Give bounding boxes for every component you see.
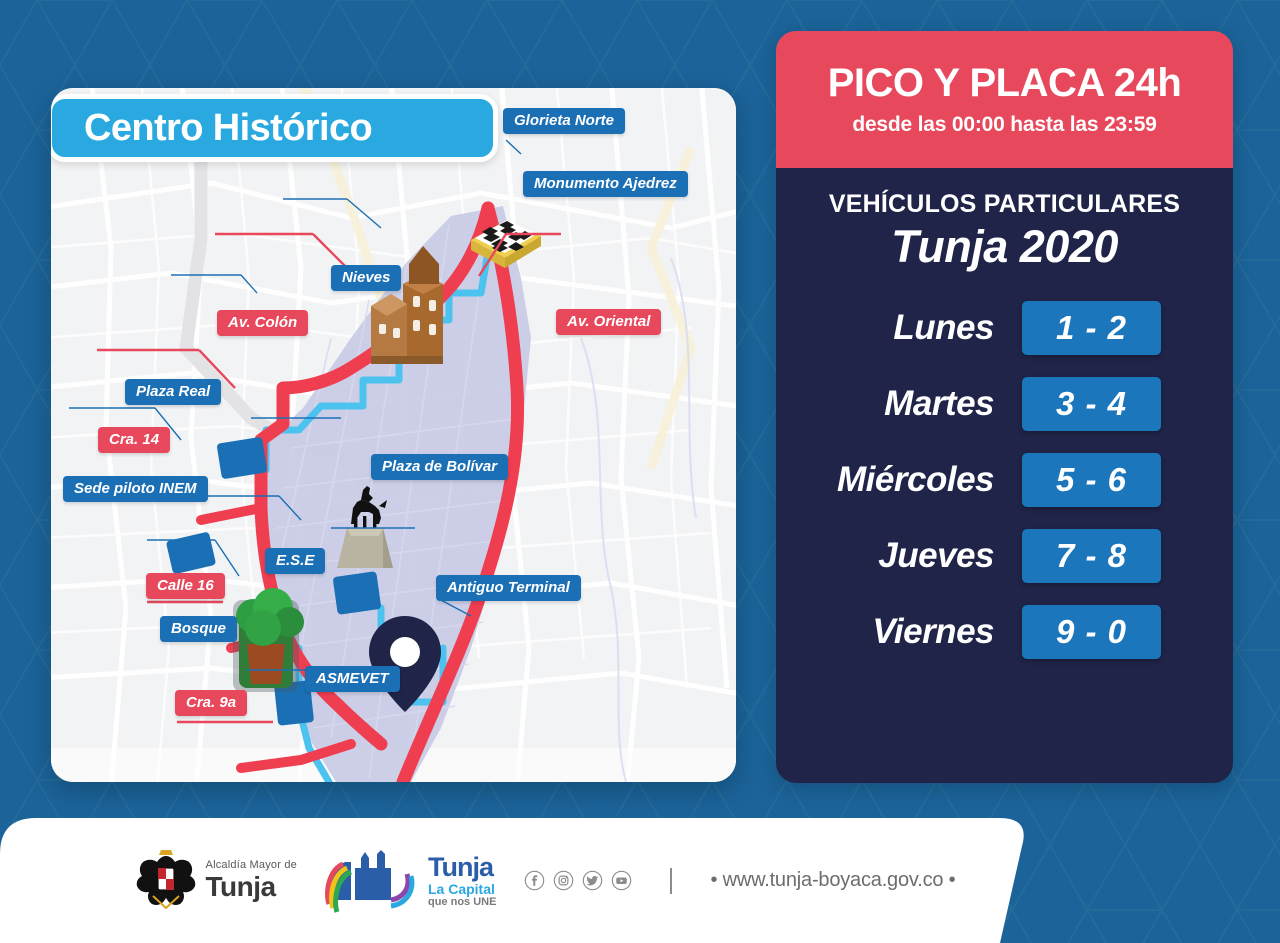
map-label-av-oriental[interactable]: Av. Oriental (556, 309, 661, 335)
footer: Alcaldía Mayor de Tunja Tunja La Capital… (0, 818, 1280, 943)
map-label-sede-piloto-inem[interactable]: Sede piloto INEM (63, 476, 208, 502)
map-label-av-colon[interactable]: Av. Colón (217, 310, 308, 336)
map-title-pill: Centro Histórico (51, 94, 498, 162)
map-label-asmevet[interactable]: ASMEVET (305, 666, 400, 692)
map-label-ese[interactable]: E.S.E (265, 548, 325, 574)
plate-badge-jueves: 7 - 8 (1022, 529, 1161, 583)
day-label-lunes: Lunes (893, 308, 994, 348)
schedule-list: Lunes 1 - 2 Martes 3 - 4 Miércoles 5 - 6… (776, 301, 1233, 659)
panel-header: PICO Y PLACA 24h desde las 00:00 hasta l… (776, 31, 1233, 168)
plate-badge-viernes: 9 - 0 (1022, 605, 1161, 659)
panel-body: VEHÍCULOS PARTICULARES Tunja 2020 Lunes … (776, 168, 1233, 783)
map-label-cra-14[interactable]: Cra. 14 (98, 427, 170, 453)
instagram-icon[interactable] (553, 870, 574, 891)
map-label-bosque[interactable]: Bosque (160, 616, 237, 642)
footer-divider (670, 868, 672, 894)
panel-title: PICO Y PLACA 24h (828, 63, 1182, 103)
facebook-icon[interactable] (524, 870, 545, 891)
youtube-icon[interactable] (611, 870, 632, 891)
map-label-glorieta-norte[interactable]: Glorieta Norte (503, 108, 625, 134)
website-url[interactable]: • www.tunja-boyaca.gov.co • (710, 869, 955, 892)
map-label-monumento-ajedrez[interactable]: Monumento Ajedrez (523, 171, 688, 197)
map-label-plaza-de-bolivar[interactable]: Plaza de Bolívar (371, 454, 508, 480)
map-card: Glorieta Norte Monumento Ajedrez Nieves … (51, 88, 736, 782)
panel-subtitle: desde las 00:00 hasta las 23:59 (852, 113, 1156, 137)
plate-badge-martes: 3 - 4 (1022, 377, 1161, 431)
coat-of-arms-icon (135, 848, 197, 914)
map-label-nieves[interactable]: Nieves (331, 265, 401, 291)
alcaldia-big-label: Tunja (206, 873, 297, 901)
alcaldia-small-label: Alcaldía Mayor de (206, 860, 297, 871)
tunja-brand-logo: Tunja La Capital que nos UNE (325, 848, 496, 914)
city-year-label: Tunja 2020 (776, 221, 1233, 273)
schedule-row-viernes: Viernes 9 - 0 (776, 605, 1233, 659)
pico-y-placa-panel: PICO Y PLACA 24h desde las 00:00 hasta l… (776, 31, 1233, 783)
map-title-text: Centro Histórico (84, 107, 372, 150)
plate-badge-lunes: 1 - 2 (1022, 301, 1161, 355)
map-label-antiguo-terminal[interactable]: Antiguo Terminal (436, 575, 581, 601)
schedule-row-lunes: Lunes 1 - 2 (776, 301, 1233, 355)
day-label-miercoles: Miércoles (837, 460, 994, 500)
map-label-plaza-real[interactable]: Plaza Real (125, 379, 221, 405)
footer-content: Alcaldía Mayor de Tunja Tunja La Capital… (0, 818, 1030, 943)
schedule-row-jueves: Jueves 7 - 8 (776, 529, 1233, 583)
map-label-cra-9a[interactable]: Cra. 9a (175, 690, 247, 716)
plate-badge-miercoles: 5 - 6 (1022, 453, 1161, 507)
tunja-skyline-icon (325, 848, 425, 914)
day-label-viernes: Viernes (872, 612, 994, 652)
tunja-brand-line2: que nos UNE (428, 897, 496, 908)
schedule-row-martes: Martes 3 - 4 (776, 377, 1233, 431)
day-label-martes: Martes (884, 384, 994, 424)
map-label-calle-16[interactable]: Calle 16 (146, 573, 225, 599)
day-label-jueves: Jueves (878, 536, 994, 576)
social-links (524, 870, 632, 891)
schedule-row-miercoles: Miércoles 5 - 6 (776, 453, 1233, 507)
tunja-brand-line1: La Capital (428, 882, 496, 896)
alcaldia-logo: Alcaldía Mayor de Tunja (135, 848, 297, 914)
tunja-brand-name: Tunja (428, 854, 496, 881)
vehicle-category-label: VEHÍCULOS PARTICULARES (776, 190, 1233, 219)
twitter-icon[interactable] (582, 870, 603, 891)
